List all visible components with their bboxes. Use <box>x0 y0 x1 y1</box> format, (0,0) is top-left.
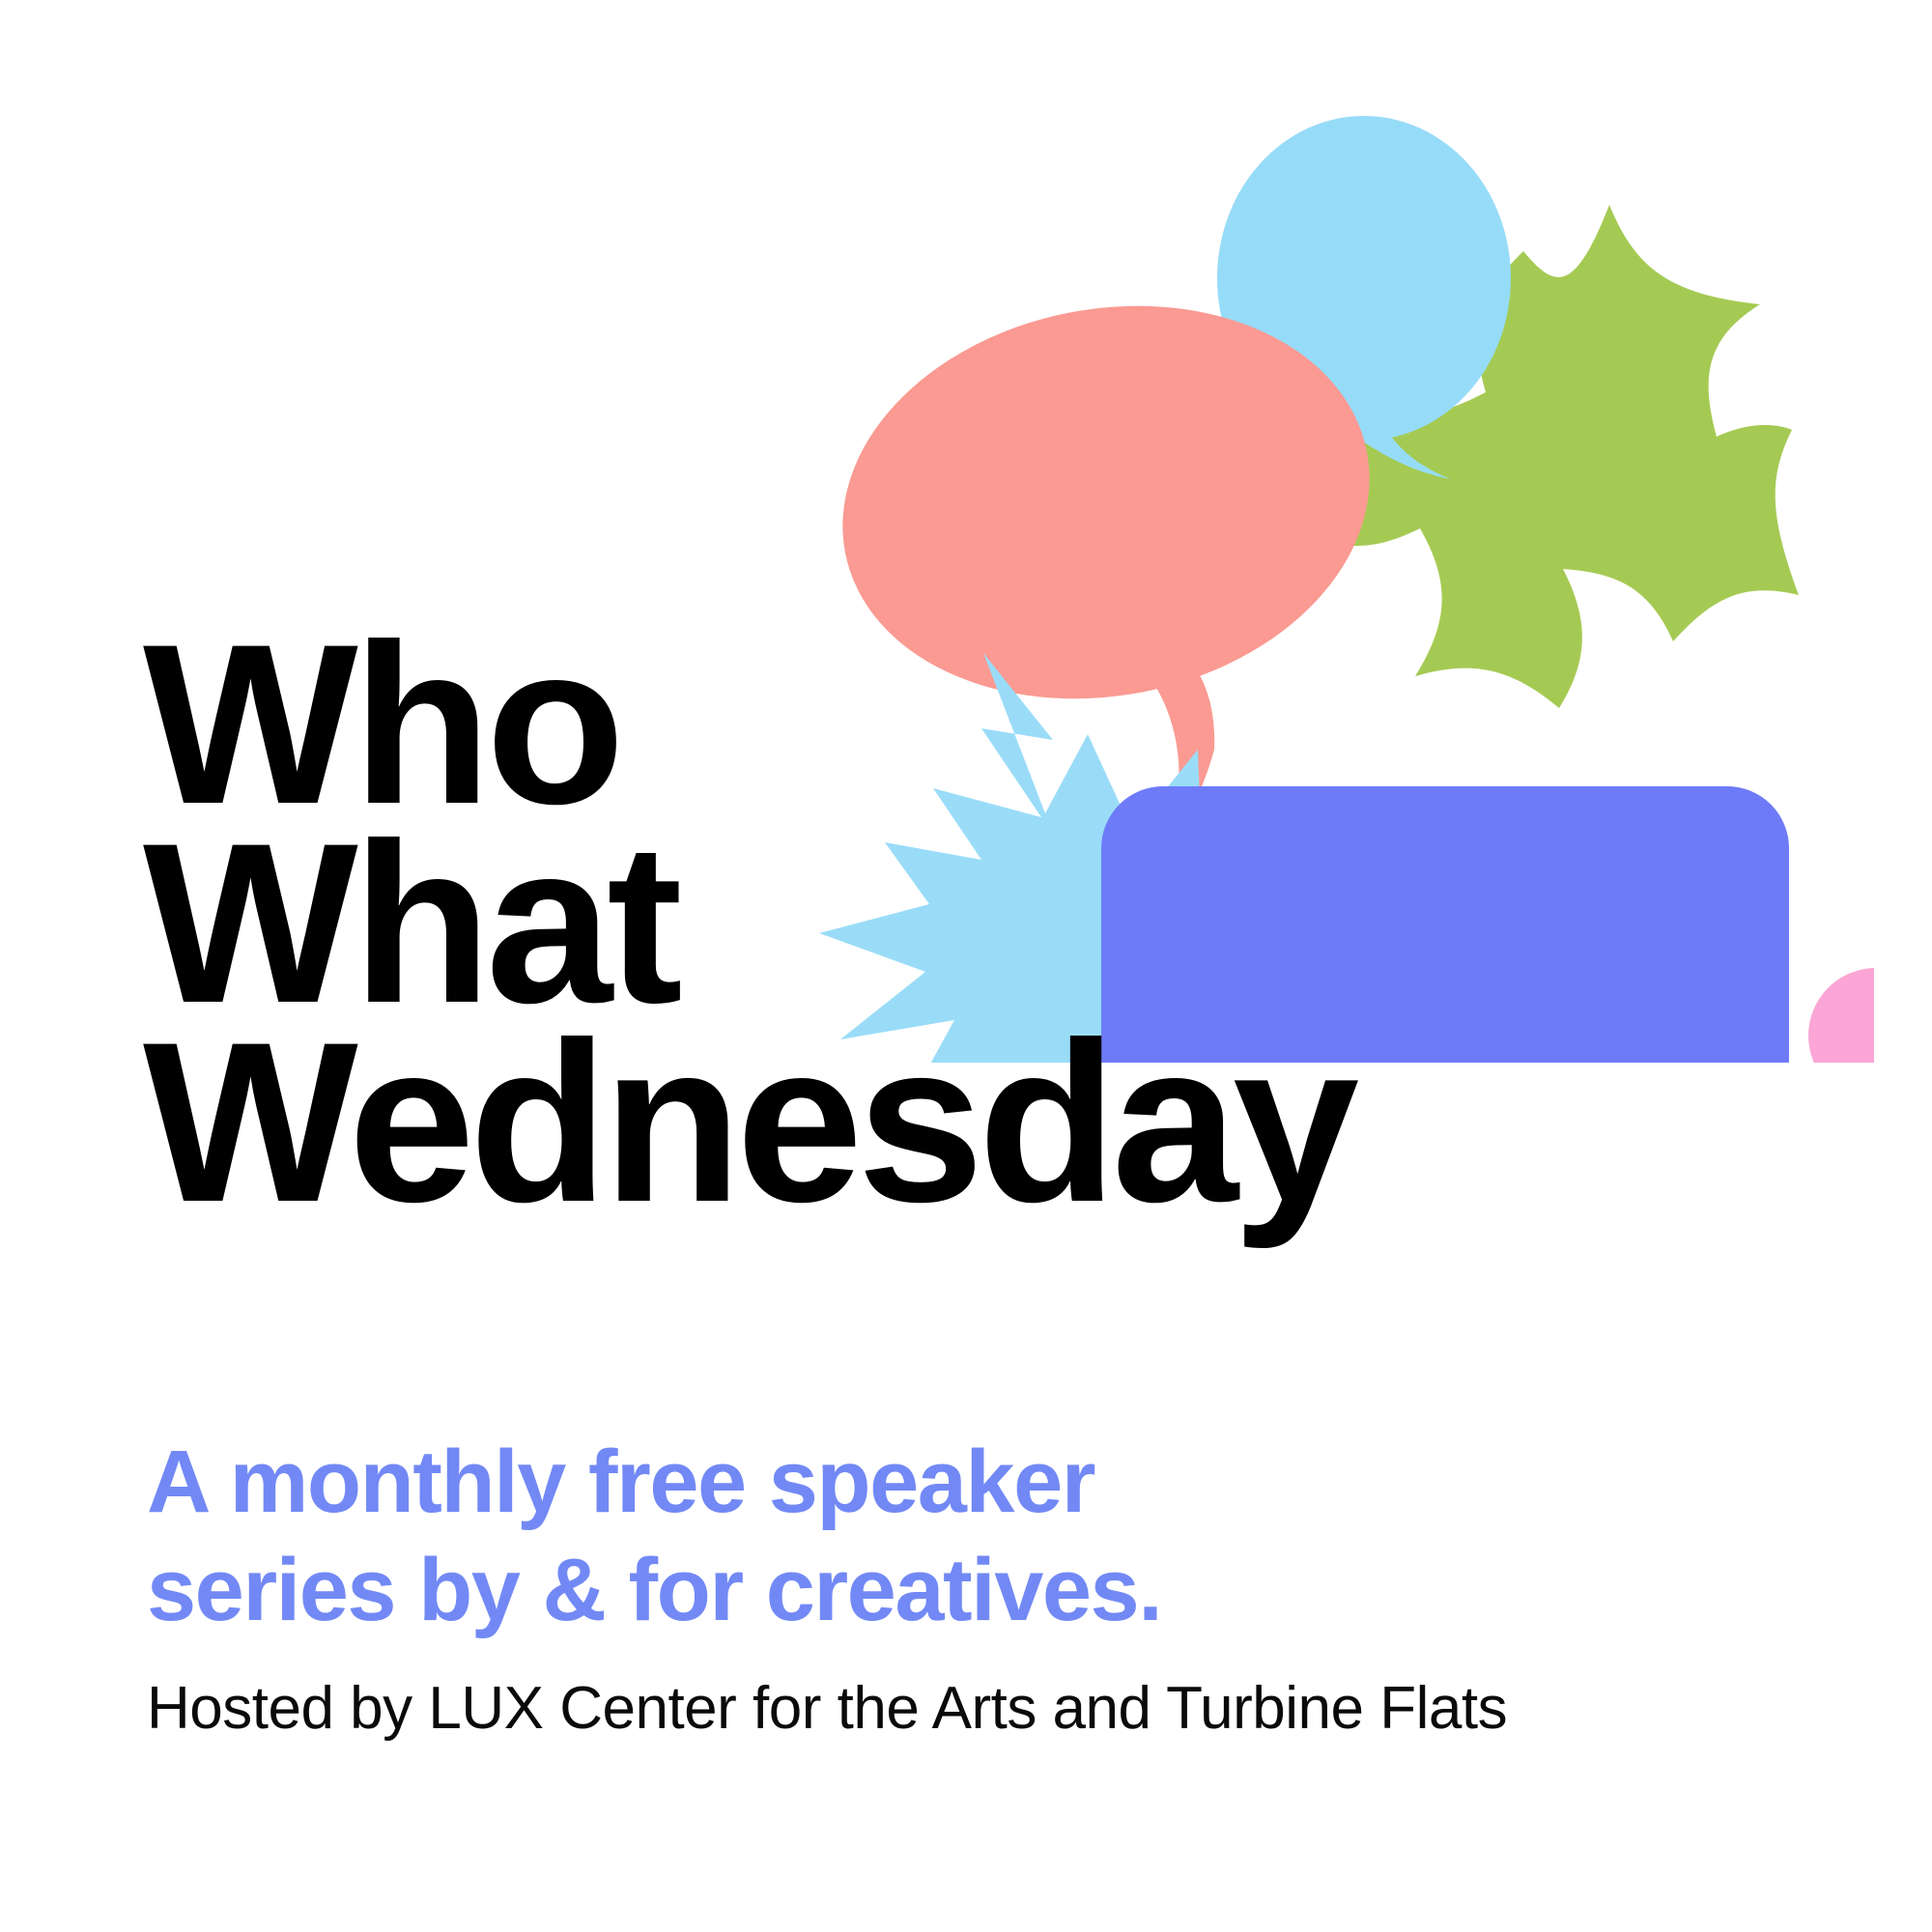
subhead-line-2: series by & for creatives. <box>147 1546 1161 1634</box>
poster-text-block: Who What Wednesday A monthly free speake… <box>0 0 1932 1932</box>
poster-canvas: Who What Wednesday A monthly free speake… <box>0 0 1932 1932</box>
subhead-line-1: A monthly free speaker <box>147 1437 1094 1526</box>
hosted-by-line: Hosted by LUX Center for the Arts and Tu… <box>147 1679 1507 1739</box>
headline-line-wednesday: Wednesday <box>143 1009 1353 1236</box>
